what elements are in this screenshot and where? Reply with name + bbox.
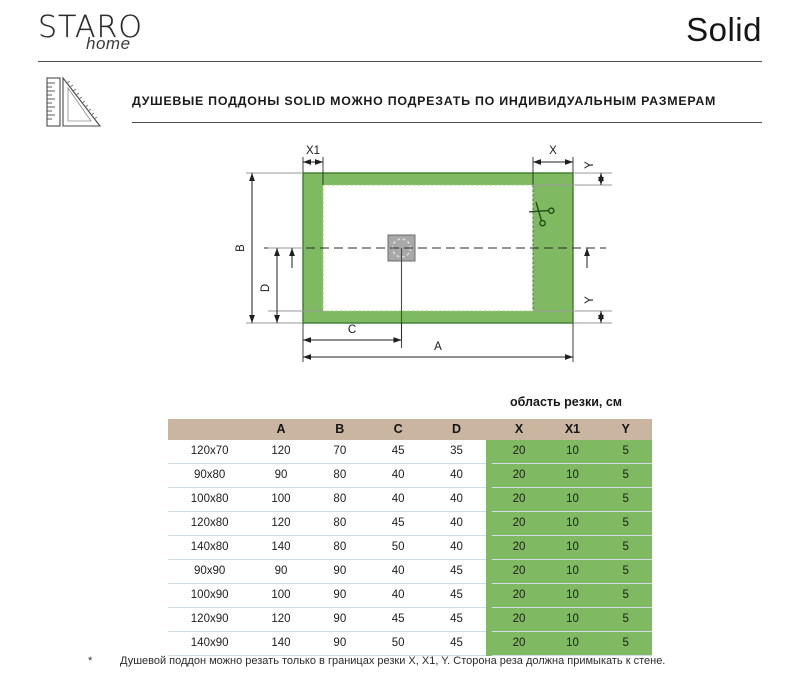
cell-d: 35 [427,440,485,464]
cell-c: 50 [369,536,427,560]
cell-x1: 10 [546,584,600,608]
table-row: 90x80 90 80 40 40 20 10 5 [168,464,652,488]
cell-y: 5 [599,488,652,512]
cell-gap [486,632,493,656]
cell-x: 20 [492,512,545,536]
cell-gap [486,512,493,536]
cell-x: 20 [492,536,545,560]
cell-c: 40 [369,584,427,608]
cell-c: 40 [369,560,427,584]
label-y-top: Y [584,161,596,169]
cell-d: 45 [427,608,485,632]
cell-x1: 10 [546,488,600,512]
shower-tray-diagram: X1 X Y Y B D [0,140,800,380]
cell-d: 45 [427,560,485,584]
page-header: STARO home Solid [0,0,800,62]
cell-size: 90x90 [168,560,251,584]
table-row: 120x80 120 80 45 40 20 10 5 [168,512,652,536]
cell-c: 45 [369,608,427,632]
cell-y: 5 [599,632,652,656]
ruler-triangle-icon [44,74,104,130]
header-divider [38,61,762,62]
column-header-b: B [311,419,369,440]
footnote-marker: * [88,655,92,667]
cell-c: 50 [369,632,427,656]
page-title: Solid [686,11,762,49]
cell-x: 20 [492,584,545,608]
cell-a: 120 [251,512,310,536]
cell-x1: 10 [546,608,600,632]
cell-x: 20 [492,560,545,584]
cell-b: 80 [311,536,369,560]
cell-b: 70 [311,440,369,464]
column-header-a: A [251,419,310,440]
cell-x: 20 [492,488,545,512]
table-header-row: A B C D X X1 Y [168,419,652,440]
cell-size: 120x70 [168,440,251,464]
logo-home-text: home [86,34,131,54]
dimension-a: A [303,341,573,357]
brand-logo: STARO home [38,10,188,56]
column-header-x1: X1 [546,419,600,440]
dimension-c: C [303,324,402,340]
cell-size: 100x80 [168,488,251,512]
dimension-b: B [235,173,252,323]
cell-size: 140x80 [168,536,251,560]
cut-area-label: область резки, см [510,395,622,409]
column-header-x: X [492,419,545,440]
column-header-c: C [369,419,427,440]
dimension-x: X [533,145,573,162]
cell-gap [486,464,493,488]
label-x: X [549,145,557,157]
cell-y: 5 [599,464,652,488]
cell-d: 45 [427,584,485,608]
cell-d: 40 [427,488,485,512]
cell-size: 100x90 [168,584,251,608]
cell-x1: 10 [546,464,600,488]
column-header-size [168,419,251,440]
cell-a: 90 [251,464,310,488]
column-header-d: D [427,419,485,440]
cell-c: 40 [369,488,427,512]
column-header-gap [486,419,493,440]
cell-x1: 10 [546,632,600,656]
cell-gap [486,440,493,464]
column-header-y: Y [599,419,652,440]
cell-a: 100 [251,488,310,512]
cell-x: 20 [492,440,545,464]
cell-a: 120 [251,440,310,464]
table-body: 120x70 120 70 45 35 20 10 5 90x80 90 80 … [168,440,652,656]
cell-b: 80 [311,464,369,488]
cell-size: 120x90 [168,608,251,632]
table-row: 140x90 140 90 50 45 20 10 5 [168,632,652,656]
cell-a: 100 [251,584,310,608]
label-c: C [348,324,356,336]
cell-b: 80 [311,512,369,536]
cell-b: 90 [311,632,369,656]
cell-y: 5 [599,584,652,608]
dimension-x1: X1 [303,145,323,162]
cell-x: 20 [492,632,545,656]
cell-a: 140 [251,536,310,560]
cell-d: 40 [427,464,485,488]
label-a: A [434,341,442,353]
cell-y: 5 [599,560,652,584]
label-b: B [235,244,247,252]
cell-x1: 10 [546,536,600,560]
cell-c: 45 [369,440,427,464]
table-row: 100x80 100 80 40 40 20 10 5 [168,488,652,512]
cell-y: 5 [599,512,652,536]
cell-size: 140x90 [168,632,251,656]
table-row: 140x80 140 80 50 40 20 10 5 [168,536,652,560]
cell-gap [486,608,493,632]
section-heading-text: ДУШЕВЫЕ ПОДДОНЫ SOLID МОЖНО ПОДРЕЗАТЬ ПО… [132,94,716,108]
table-row: 120x70 120 70 45 35 20 10 5 [168,440,652,464]
cell-x1: 10 [546,440,600,464]
cell-d: 40 [427,512,485,536]
cell-b: 90 [311,608,369,632]
cell-x1: 10 [546,512,600,536]
cell-gap [486,560,493,584]
cell-x: 20 [492,464,545,488]
specifications-section: область резки, см A B C D X X1 Y 120x70 … [0,395,800,645]
section-divider [132,122,762,123]
cell-b: 80 [311,488,369,512]
cell-d: 45 [427,632,485,656]
cell-b: 90 [311,584,369,608]
label-x1: X1 [306,145,320,157]
dimension-d: D [260,248,277,323]
cell-gap [486,584,493,608]
section-heading-block: ДУШЕВЫЕ ПОДДОНЫ SOLID МОЖНО ПОДРЕЗАТЬ ПО… [0,72,800,132]
cell-a: 120 [251,608,310,632]
cell-c: 45 [369,512,427,536]
cell-y: 5 [599,440,652,464]
cell-y: 5 [599,536,652,560]
cell-x1: 10 [546,560,600,584]
cell-size: 120x80 [168,512,251,536]
cell-gap [486,536,493,560]
cell-x: 20 [492,608,545,632]
cell-size: 90x80 [168,464,251,488]
specifications-table: A B C D X X1 Y 120x70 120 70 45 35 20 10… [168,419,652,656]
table-row: 90x90 90 90 40 45 20 10 5 [168,560,652,584]
cell-c: 40 [369,464,427,488]
table-row: 100x90 100 90 40 45 20 10 5 [168,584,652,608]
cell-a: 90 [251,560,310,584]
cell-b: 90 [311,560,369,584]
cell-gap [486,488,493,512]
label-y-bottom: Y [584,296,596,304]
cell-a: 140 [251,632,310,656]
label-d: D [260,284,272,292]
footnote-text: Душевой поддон можно резать только в гра… [120,655,665,667]
cell-d: 40 [427,536,485,560]
table-row: 120x90 120 90 45 45 20 10 5 [168,608,652,632]
cell-y: 5 [599,608,652,632]
dimension-y-bottom: Y [584,296,601,323]
